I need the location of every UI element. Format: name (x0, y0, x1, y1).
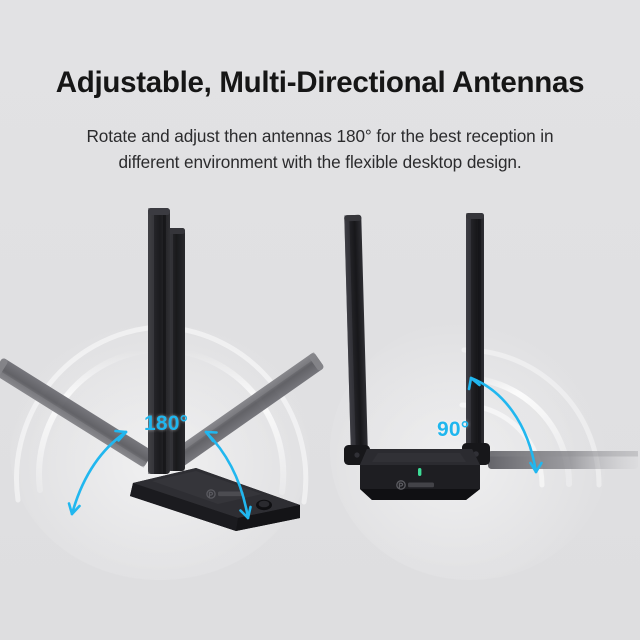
page-title: Adjustable, Multi-Directional Antennas (0, 66, 640, 101)
antenna-right (466, 213, 484, 456)
subtitle-line-2: different environment with the flexible … (55, 149, 585, 175)
illustration-90-degrees: 90° (320, 200, 640, 640)
page-subtitle: Rotate and adjust then antennas 180° for… (55, 123, 585, 175)
antenna-rear (168, 228, 185, 471)
product-feature-page: Adjustable, Multi-Directional Antennas R… (0, 0, 640, 640)
power-led-icon (418, 468, 421, 476)
adapter-dock (360, 449, 480, 500)
illustration-row: 180° (0, 200, 640, 640)
antenna-front (148, 208, 170, 474)
header-block: Adjustable, Multi-Directional Antennas R… (0, 0, 640, 175)
ghost-antenna-horizontal (488, 451, 638, 469)
subtitle-line-1: Rotate and adjust then antennas 180° for… (55, 123, 585, 149)
illustration-180-degrees: 180° (0, 200, 330, 640)
